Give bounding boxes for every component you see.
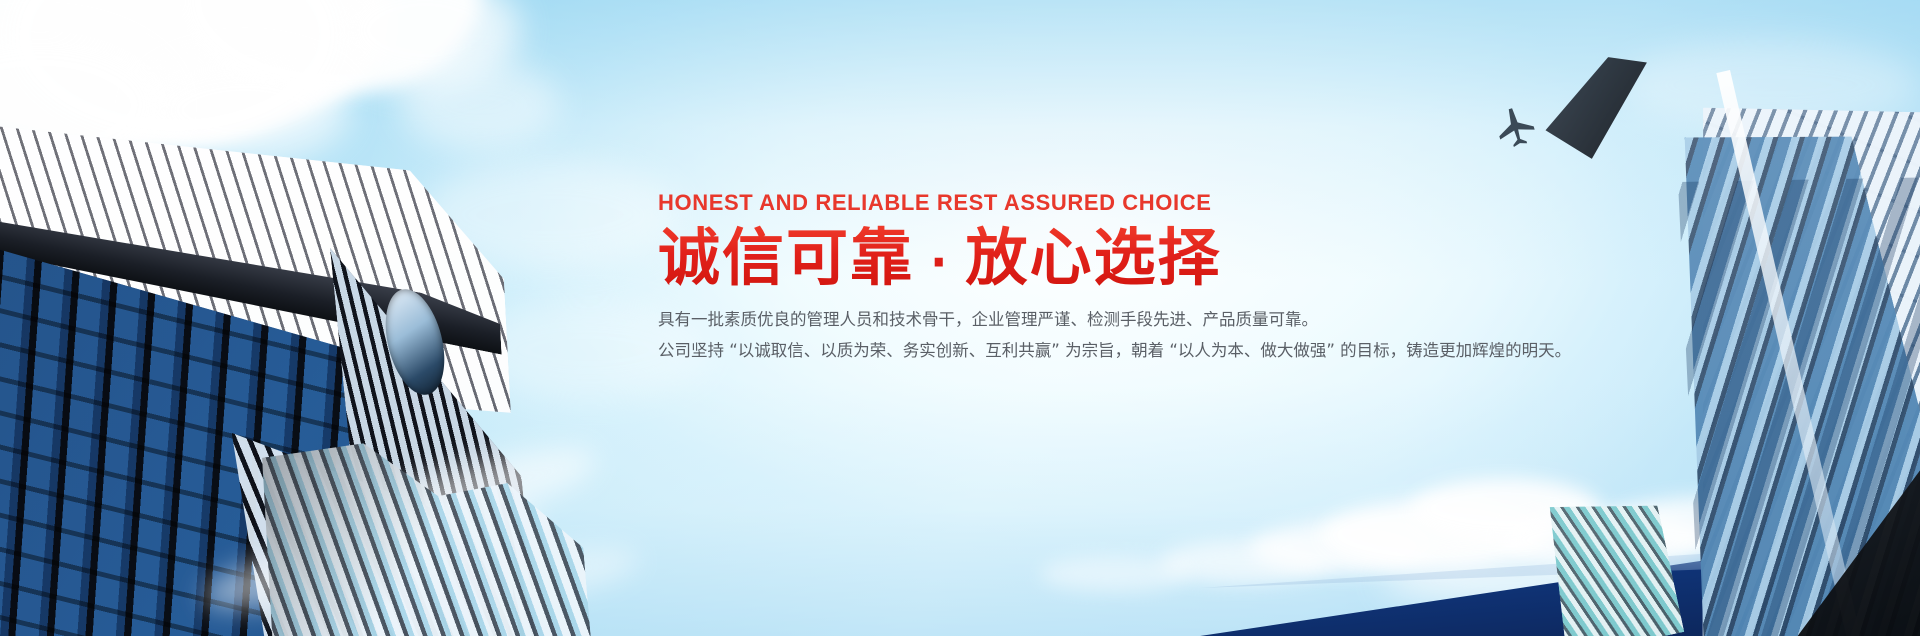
banner-body: 具有一批素质优良的管理人员和技术骨干，企业管理严谨、检测手段先进、产品质量可靠。… (658, 305, 1658, 366)
banner-eyebrow: HONEST AND RELIABLE REST ASSURED CHOICE (658, 190, 1658, 215)
banner-headline: 诚信可靠·放心选择 (658, 225, 1658, 291)
headline-right: 放心选择 (966, 221, 1222, 294)
headline-separator: · (914, 235, 965, 289)
headline-left: 诚信可靠 (658, 221, 914, 294)
hero-banner: HONEST AND RELIABLE REST ASSURED CHOICE … (0, 0, 1920, 636)
banner-copy: HONEST AND RELIABLE REST ASSURED CHOICE … (658, 190, 1658, 366)
banner-body-line: 具有一批素质优良的管理人员和技术骨干，企业管理严谨、检测手段先进、产品质量可靠。 (658, 305, 1658, 336)
banner-body-line: 公司坚持 “以诚取信、以质为荣、务实创新、互利共赢” 为宗旨，朝着 “以人为本、… (658, 336, 1658, 367)
cloud (1040, 556, 1190, 592)
right-skyscraper-top-detail (1535, 39, 1664, 177)
